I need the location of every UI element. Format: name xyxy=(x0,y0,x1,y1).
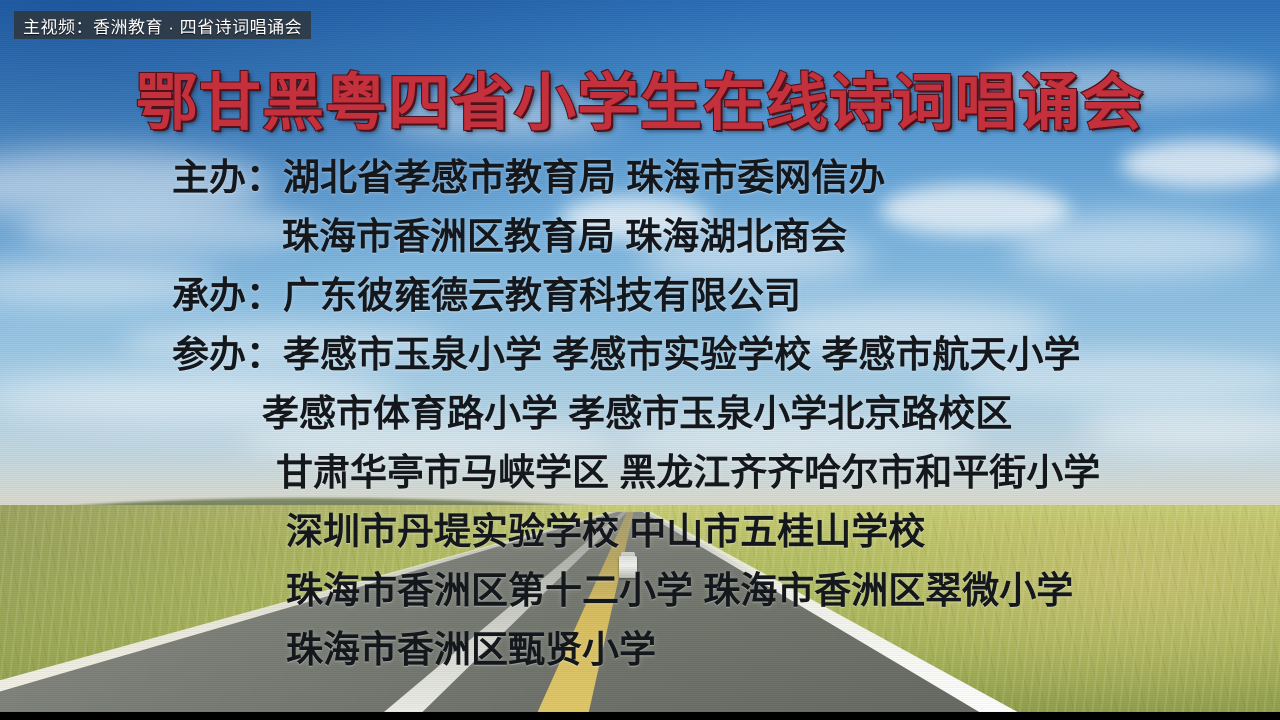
credit-line: 甘肃华亭市马峡学区 黑龙江齐齐哈尔市和平街小学 xyxy=(0,443,1280,502)
credit-line: 珠海市香洲区第十二小学 珠海市香洲区翠微小学 xyxy=(0,561,1280,620)
video-frame: 主视频：香洲教育 · 四省诗词唱诵会 鄂甘黑粤四省小学生在线诗词唱诵会 主办：湖… xyxy=(0,0,1280,720)
credit-line: 主办：湖北省孝感市教育局 珠海市委网信办 xyxy=(0,148,1280,207)
source-label-badge: 主视频：香洲教育 · 四省诗词唱诵会 xyxy=(14,11,311,39)
page-title: 鄂甘黑粤四省小学生在线诗词唱诵会 xyxy=(0,52,1280,142)
credit-line: 珠海市香洲区教育局 珠海湖北商会 xyxy=(0,207,1280,266)
credit-line: 参办：孝感市玉泉小学 孝感市实验学校 孝感市航天小学 xyxy=(0,325,1280,384)
letterbox-bar xyxy=(0,712,1280,720)
credit-line: 承办：广东彼雍德云教育科技有限公司 xyxy=(0,266,1280,325)
credit-line: 珠海市香洲区甄贤小学 xyxy=(0,620,1280,679)
credits-block: 主办：湖北省孝感市教育局 珠海市委网信办 珠海市香洲区教育局 珠海湖北商会 承办… xyxy=(0,148,1280,679)
credit-line: 孝感市体育路小学 孝感市玉泉小学北京路校区 xyxy=(0,384,1280,443)
credit-line: 深圳市丹堤实验学校 中山市五桂山学校 xyxy=(0,502,1280,561)
